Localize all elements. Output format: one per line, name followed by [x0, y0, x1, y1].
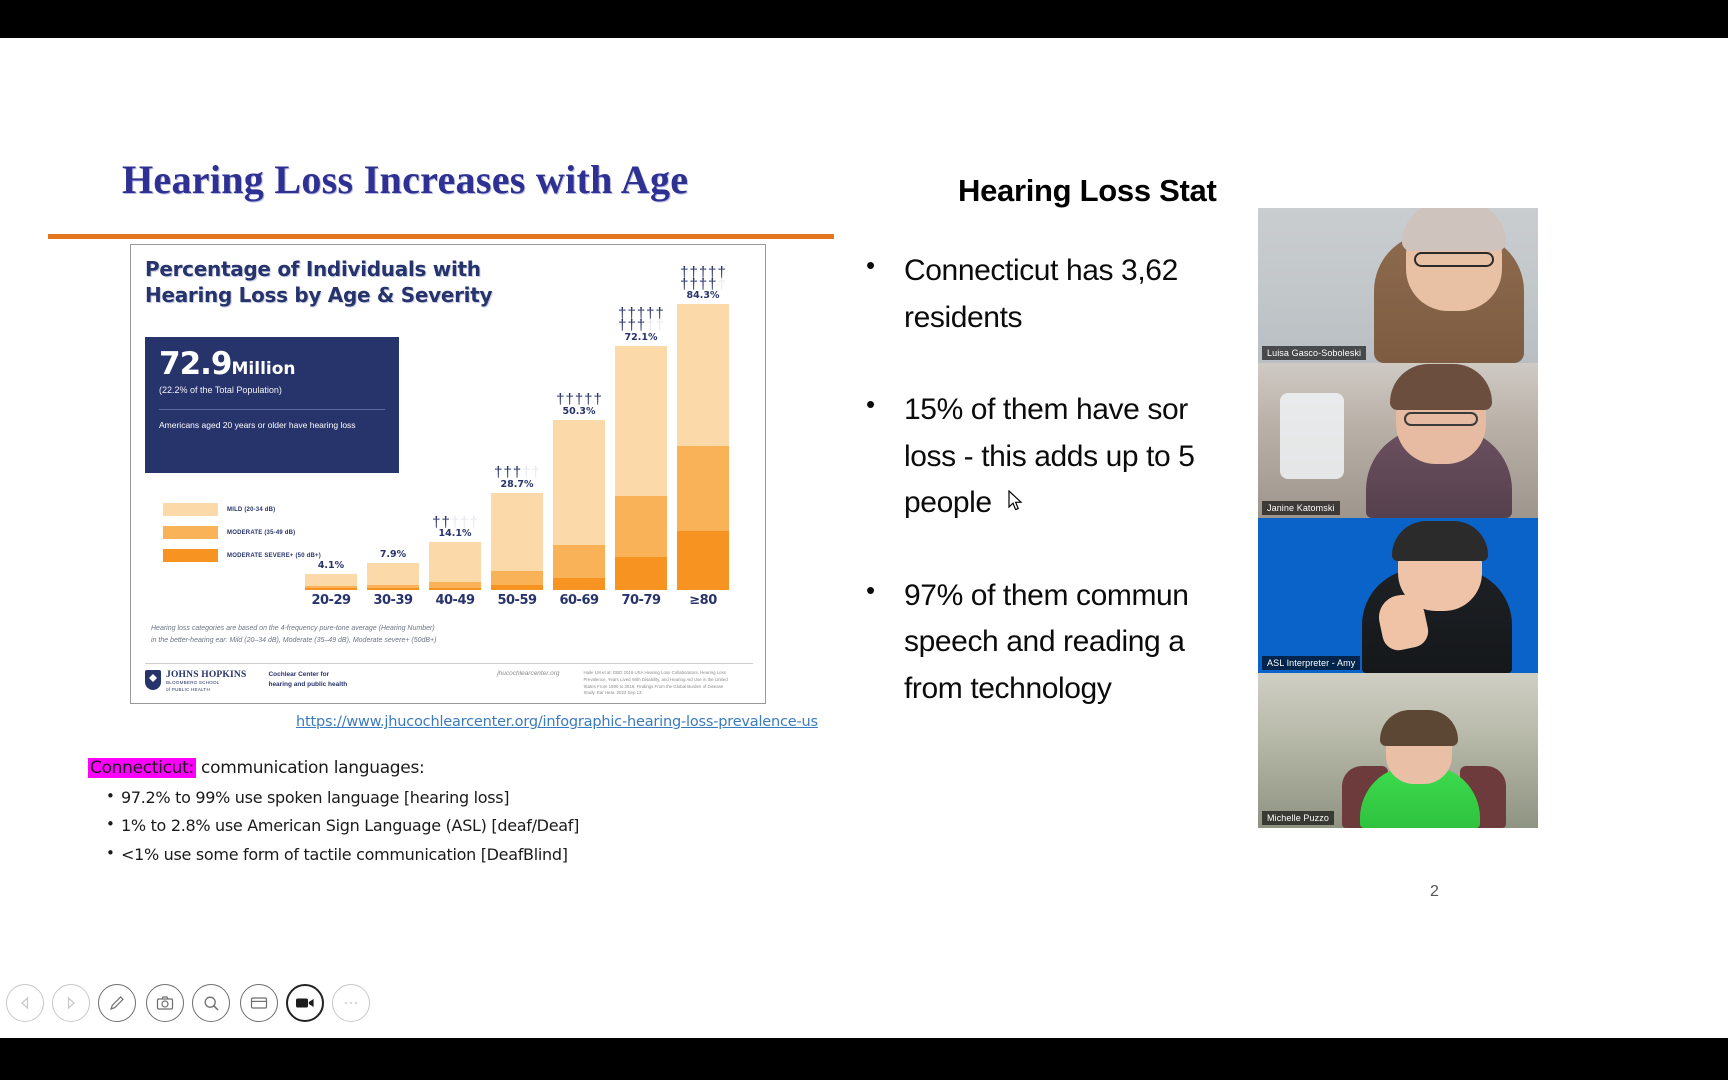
bar-segment [367, 588, 419, 590]
magnifier-icon [203, 995, 220, 1012]
legend-label: MILD (20-34 dB) [227, 507, 275, 513]
pen-tool-button[interactable] [98, 984, 136, 1022]
participant-hair [1402, 208, 1506, 251]
video-participants-rail[interactable]: Luisa Gasco-Soboleski Janine Katomski AS… [1258, 208, 1538, 828]
legend-label: MODERATE (35-49 dB) [227, 530, 295, 536]
legend-swatch [163, 549, 218, 562]
pictogram-group: ††††† [429, 517, 481, 529]
connecticut-heading-rest: communication languages: [196, 758, 425, 778]
infographic-footnote: Hearing loss categories are based on the… [151, 623, 711, 647]
connecticut-highlight: Connecticut: [88, 758, 196, 778]
participant-name-label: Michelle Puzzo [1262, 811, 1334, 825]
video-camera-icon [295, 996, 315, 1010]
background-light [1280, 393, 1344, 479]
camera-tool-button[interactable] [146, 984, 184, 1022]
video-tile-participant-4[interactable]: Michelle Puzzo [1258, 673, 1538, 828]
stacked-bar [615, 346, 667, 590]
source-link[interactable]: https://www.jhucochlearcenter.org/infogr… [296, 714, 818, 730]
slide-title-right: Hearing Loss Stat [958, 173, 1478, 209]
previous-slide-button[interactable] [6, 984, 44, 1022]
stacked-bar [553, 420, 605, 590]
list-item: 97.2% to 99% use spoken language [hearin… [106, 784, 788, 812]
screen: Hearing Loss Increases with Age Percenta… [0, 0, 1728, 1080]
bar-value-label: 7.9% [367, 549, 419, 560]
stacked-bar [305, 574, 357, 590]
infographic-footer: JOHNS HOPKINS BLOOMBERG SCHOOL of PUBLIC… [145, 663, 753, 697]
bar-column: †††††28.7% [491, 467, 543, 590]
bar-column: 7.9% [367, 549, 419, 590]
connecticut-block: Connecticut: communication languages: 97… [88, 758, 788, 869]
legend-item-2: MODERATE SEVERE+ (50 dB+) [163, 549, 321, 562]
axis-tick-label: 20-29 [300, 593, 362, 608]
pen-icon [108, 994, 126, 1012]
slide-number: 2 [1430, 883, 1439, 901]
brand-name: JOHNS HOPKINS [166, 670, 246, 680]
legend-item-0: MILD (20-34 dB) [163, 503, 321, 516]
pictogram-group: †††††††††† [677, 267, 729, 290]
bar-segment [677, 531, 729, 590]
menu-tool-button[interactable] [332, 984, 370, 1022]
participant-hair [1380, 710, 1458, 746]
stacked-bar [491, 493, 543, 590]
axis-tick-label: 30-39 [362, 593, 424, 608]
glasses-icon [1414, 252, 1494, 267]
bar-segment [553, 420, 605, 545]
triangle-right-icon [64, 996, 78, 1010]
participant-hair [1392, 521, 1488, 561]
footnote-line2: in the better-hearing ear: Mild (20–34 d… [151, 635, 711, 647]
video-tile-asl-interpreter[interactable]: ASL Interpreter - Amy [1258, 518, 1538, 673]
axis-tick-label: 70-79 [610, 593, 672, 608]
axis-tick-label: 50-59 [486, 593, 548, 608]
chart-legend: MILD (20-34 dB)MODERATE (35-49 dB)MODERA… [163, 503, 321, 572]
glasses-icon [1404, 412, 1478, 426]
bar-segment [367, 563, 419, 585]
legend-swatch [163, 526, 218, 539]
pictogram-group: †††††††††† [615, 308, 667, 331]
axis-tick-label: 60-69 [548, 593, 610, 608]
stacked-bar [367, 563, 419, 590]
bar-segment [677, 304, 729, 446]
legend-item-1: MODERATE (35-49 dB) [163, 526, 321, 539]
bar-segment [491, 585, 543, 590]
bar-column: 4.1% [305, 560, 357, 590]
bar-segment [615, 557, 667, 590]
list-item: 1% to 2.8% use American Sign Language (A… [106, 812, 788, 840]
mouse-cursor [1008, 490, 1024, 512]
letterbox-top [0, 0, 1728, 38]
axis-tick-label: ≥80 [672, 593, 734, 608]
bar-segment [305, 588, 357, 590]
bar-value-label: 4.1% [305, 560, 357, 571]
bar-chart-plot: 4.1%7.9%†††††14.1%†††††28.7%†††††50.3%††… [299, 285, 754, 590]
bar-segment [553, 545, 605, 579]
stat-number: 72.9 [159, 346, 232, 382]
participant-name-label: Luisa Gasco-Soboleski [1262, 346, 1366, 360]
slide-title-left: Hearing Loss Increases with Age [122, 156, 882, 203]
next-slide-button[interactable] [52, 984, 90, 1022]
bar-segment [677, 446, 729, 531]
letterbox-bottom [0, 1038, 1728, 1080]
brand-sub-line1: BLOOMBERG SCHOOL [166, 680, 246, 687]
bar-segment [553, 578, 605, 590]
presentation-slide: Hearing Loss Increases with Age Percenta… [0, 38, 1728, 1038]
bar-column: †††††14.1% [429, 517, 481, 590]
title-underline-rule [48, 234, 834, 239]
axis-tick-label: 40-49 [424, 593, 486, 608]
bar-column: †††††50.3% [553, 394, 605, 590]
pictogram-group: ††††† [491, 467, 543, 479]
video-tile-participant-2[interactable]: Janine Katomski [1258, 363, 1538, 518]
bar-column: ††††††††††72.1% [615, 308, 667, 590]
center-line2: hearing and public health [268, 680, 347, 690]
camera-icon [156, 995, 174, 1011]
participant-name-label: ASL Interpreter - Amy [1262, 656, 1360, 670]
bar-segment [429, 542, 481, 581]
participant-hair [1390, 364, 1492, 410]
shield-icon [145, 670, 161, 690]
center-line1: Cochlear Center for [268, 670, 347, 680]
bar-chart-axis-labels: 20-2930-3940-4950-5960-6970-79≥80 [299, 593, 754, 615]
legend-swatch [163, 503, 218, 516]
video-tool-button[interactable] [286, 984, 324, 1022]
infographic-card: Percentage of Individuals with Hearing L… [130, 244, 766, 704]
zoom-tool-button[interactable] [192, 984, 230, 1022]
connecticut-bullet-list: 97.2% to 99% use spoken language [hearin… [88, 784, 788, 869]
participant-name-label: Janine Katomski [1262, 501, 1340, 515]
johns-hopkins-logo: JOHNS HOPKINS BLOOMBERG SCHOOL of PUBLIC… [145, 670, 246, 694]
stacked-bar [429, 542, 481, 590]
bar-segment [491, 571, 543, 585]
list-item: <1% use some form of tactile communicati… [106, 841, 788, 869]
pictogram-group: ††††† [553, 394, 605, 406]
bar-segment [615, 496, 667, 557]
bar-segment [615, 346, 667, 497]
infographic-citation: Haile LM et al; GBD 2019 USA Hearing Los… [583, 670, 733, 697]
more-icon [342, 999, 360, 1007]
infographic-title-line1: Percentage of Individuals with [145, 257, 745, 283]
infographic-website: jhucochlearcenter.org [497, 670, 559, 677]
card-icon [250, 996, 268, 1010]
cochlear-center-label: Cochlear Center for hearing and public h… [268, 670, 347, 690]
brand-sub-line2: of PUBLIC HEALTH [166, 687, 246, 694]
bar-segment [429, 588, 481, 590]
video-tile-participant-1[interactable]: Luisa Gasco-Soboleski [1258, 208, 1538, 363]
stacked-bar [677, 304, 729, 590]
annotation-toolbar[interactable] [0, 968, 1728, 1038]
notes-tool-button[interactable] [240, 984, 278, 1022]
bar-segment [491, 493, 543, 571]
triangle-left-icon [18, 996, 32, 1010]
footnote-line1: Hearing loss categories are based on the… [151, 623, 711, 635]
stat-unit: Million [232, 359, 296, 379]
bar-segment [305, 574, 357, 586]
bar-column: ††††††††††84.3% [677, 267, 729, 590]
connecticut-heading: Connecticut: communication languages: [88, 758, 788, 778]
